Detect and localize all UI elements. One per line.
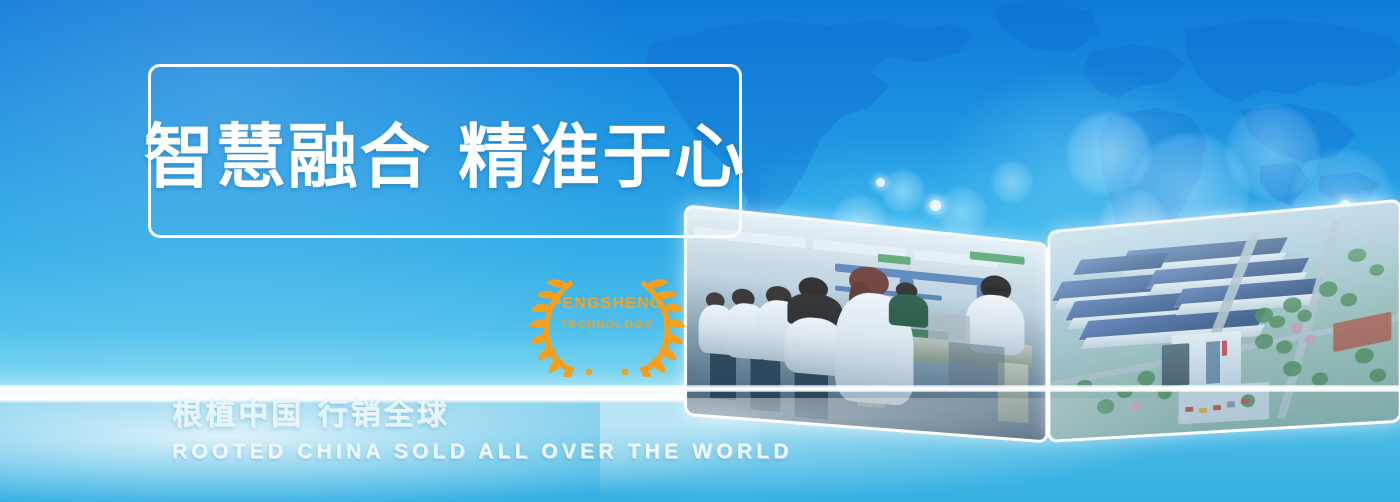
page-title: 智慧融合 精准于心 — [148, 64, 742, 238]
pengsheng-emblem: PENGSHENG TECHNOLOGY — [527, 272, 687, 377]
emblem-brand-sub: TECHNOLOGY — [527, 316, 687, 334]
emblem-brand-name: PENGSHENG — [527, 294, 687, 314]
tagline-chinese: 根植中国 行销全球 — [172, 396, 793, 434]
hero-banner: 智慧融合 精准于心 — [0, 0, 1400, 502]
tagline: 根植中国 行销全球 ROOTED CHINA SOLD ALL OVER THE… — [172, 396, 793, 467]
tagline-english: ROOTED CHINA SOLD ALL OVER THE WORLD — [172, 437, 793, 467]
factory-campus-aerial-photo — [1048, 199, 1400, 443]
